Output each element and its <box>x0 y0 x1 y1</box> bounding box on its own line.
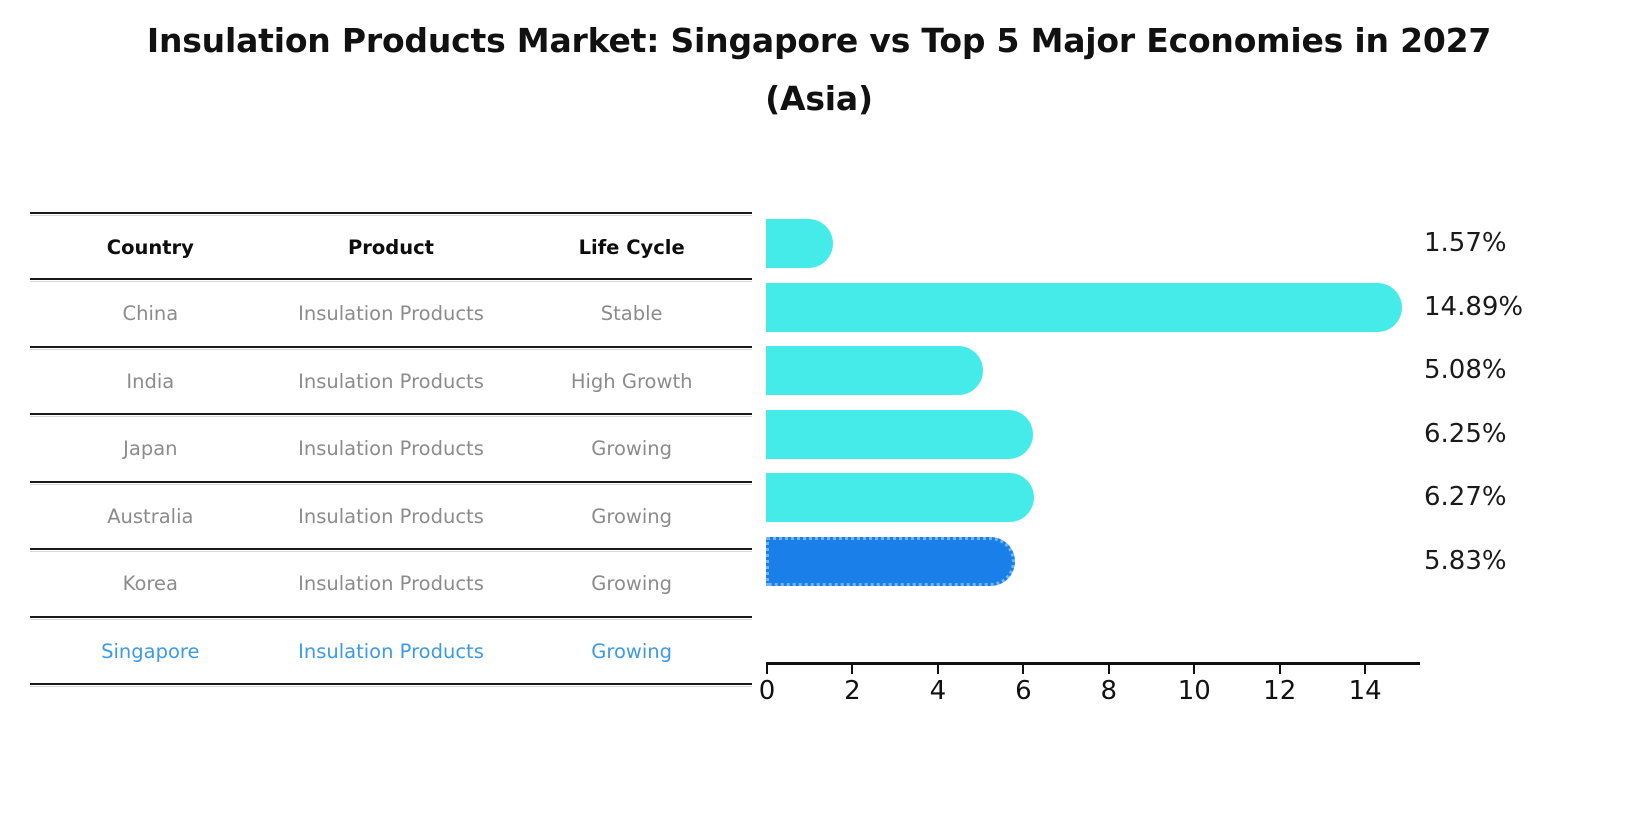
bar[interactable] <box>766 219 833 268</box>
x-axis-tick <box>937 665 939 674</box>
table-cell-country: Australia <box>30 485 271 549</box>
x-axis: 02468101214 <box>766 662 1420 722</box>
table-header-row: Country Product Life Cycle <box>30 216 752 278</box>
x-axis-tick-label: 14 <box>1349 676 1382 706</box>
bar-row: 14.89% <box>766 276 1418 340</box>
table-cell-life-cycle: Growing <box>511 552 752 616</box>
table-header-life-cycle: Life Cycle <box>511 216 752 278</box>
bar-row: 5.08% <box>766 339 1418 403</box>
table-cell-country: China <box>30 282 271 346</box>
bar-row: 6.27% <box>766 466 1418 530</box>
bar[interactable] <box>766 473 1034 522</box>
bar-row: 5.83% <box>766 530 1418 594</box>
x-axis-tick-label: 6 <box>1015 676 1032 706</box>
x-axis-tick <box>766 665 768 674</box>
table-row: Japan Insulation Products Growing <box>30 417 752 481</box>
bar-value-label: 6.27% <box>1424 473 1507 522</box>
table-cell-product: Insulation Products <box>271 350 512 414</box>
table-cell-product: Insulation Products <box>271 620 512 684</box>
table-cell-product: Insulation Products <box>271 417 512 481</box>
table-row: India Insulation Products High Growth <box>30 350 752 414</box>
x-axis-tick-label: 10 <box>1178 676 1211 706</box>
table-row: Korea Insulation Products Growing <box>30 552 752 616</box>
bar[interactable] <box>766 410 1033 459</box>
bar-value-label: 1.57% <box>1424 219 1507 268</box>
chart-title: Insulation Products Market: Singapore vs… <box>0 12 1638 128</box>
table-cell-country: Singapore <box>30 620 271 684</box>
table-cell-life-cycle: Growing <box>511 620 752 684</box>
x-axis-tick-label: 4 <box>930 676 947 706</box>
bar-highlighted[interactable] <box>766 537 1015 586</box>
table-cell-product: Insulation Products <box>271 485 512 549</box>
x-axis-tick-label: 8 <box>1101 676 1118 706</box>
table-cell-life-cycle: Stable <box>511 282 752 346</box>
table-cell-country: Korea <box>30 552 271 616</box>
bars-area: 1.57%14.89%5.08%6.25%6.27%5.83% <box>766 212 1418 664</box>
table-cell-product: Insulation Products <box>271 552 512 616</box>
x-axis-tick-label: 12 <box>1263 676 1296 706</box>
table-cell-life-cycle: Growing <box>511 417 752 481</box>
table-header-product: Product <box>271 216 512 278</box>
table-header-country: Country <box>30 216 271 278</box>
table-cell-life-cycle: Growing <box>511 485 752 549</box>
bar-value-label: 14.89% <box>1424 283 1523 332</box>
table-cell-life-cycle: High Growth <box>511 350 752 414</box>
x-axis-tick-label: 0 <box>759 676 776 706</box>
bar-chart-panel: 1.57%14.89%5.08%6.25%6.27%5.83% 02468101… <box>766 212 1638 732</box>
table-row-highlighted: Singapore Insulation Products Growing <box>30 620 752 684</box>
country-table: Country Product Life Cycle China Insulat… <box>30 212 752 687</box>
chart-title-line-2: (Asia) <box>0 70 1638 128</box>
bar-value-label: 6.25% <box>1424 410 1507 459</box>
bar-value-label: 5.08% <box>1424 346 1507 395</box>
table-bottom-rule <box>30 683 752 687</box>
table-cell-product: Insulation Products <box>271 282 512 346</box>
chart-page: Insulation Products Market: Singapore vs… <box>0 0 1638 823</box>
table-cell-country: India <box>30 350 271 414</box>
bar-row: 6.25% <box>766 403 1418 467</box>
bar[interactable] <box>766 283 1402 332</box>
x-axis-tick <box>1022 665 1024 674</box>
bar[interactable] <box>766 346 983 395</box>
x-axis-line <box>766 662 1420 665</box>
bar-value-label: 5.83% <box>1424 537 1507 586</box>
x-axis-tick <box>851 665 853 674</box>
table-row: Australia Insulation Products Growing <box>30 485 752 549</box>
x-axis-tick <box>1364 665 1366 674</box>
chart-title-line-1: Insulation Products Market: Singapore vs… <box>0 12 1638 70</box>
bar-row: 1.57% <box>766 212 1418 276</box>
x-axis-tick <box>1108 665 1110 674</box>
table-row: China Insulation Products Stable <box>30 282 752 346</box>
table-cell-country: Japan <box>30 417 271 481</box>
x-axis-tick <box>1193 665 1195 674</box>
country-table-panel: Country Product Life Cycle China Insulat… <box>30 212 752 687</box>
x-axis-tick-label: 2 <box>844 676 861 706</box>
x-axis-tick <box>1279 665 1281 674</box>
